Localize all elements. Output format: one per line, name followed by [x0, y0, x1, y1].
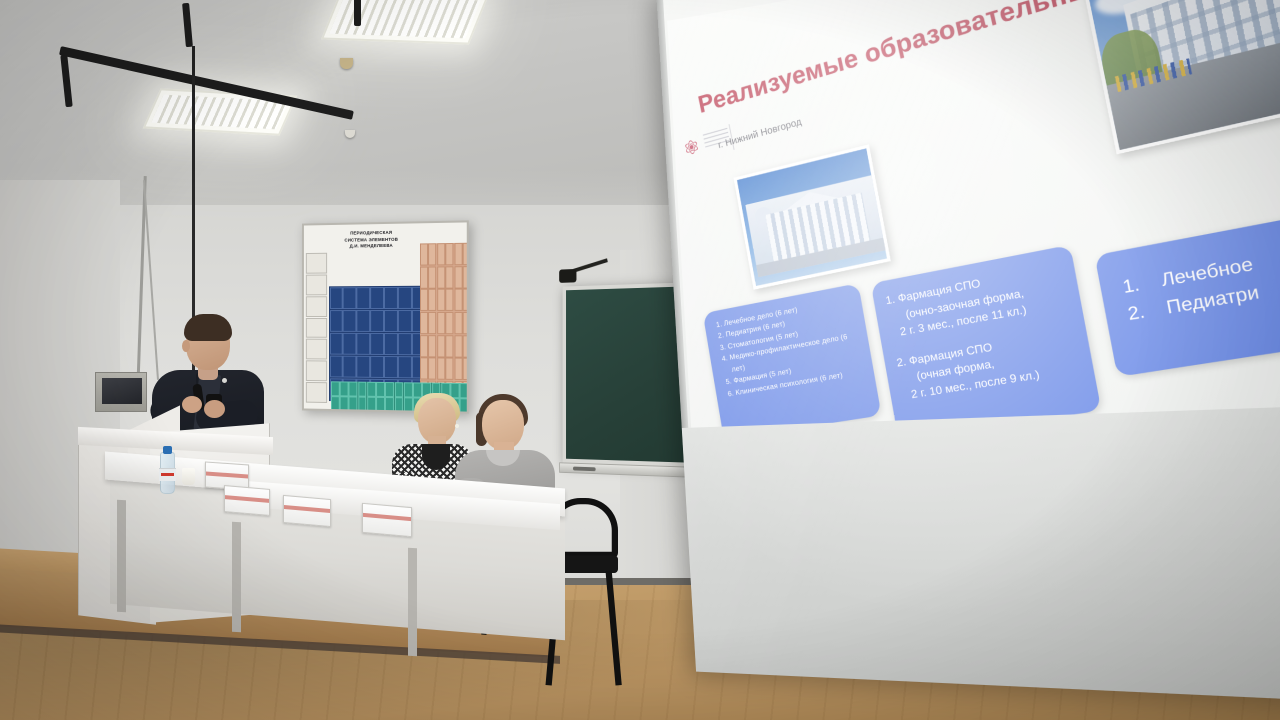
- item-number: 1.: [885, 294, 896, 307]
- presentation-slide: Реализуемые образовательные про г. Нижни…: [667, 0, 1280, 430]
- slide-box-programs-right: 1. Лечебное 2. Педиатри: [1094, 199, 1280, 377]
- earring-icon: [455, 424, 459, 428]
- presenter-hair: [184, 314, 232, 341]
- presenter-ear: [182, 340, 190, 352]
- sprinkler-icon: [340, 58, 353, 69]
- name-placard: [224, 485, 270, 516]
- poster-group-column: [306, 253, 327, 403]
- presenter-right-hand: [204, 400, 225, 418]
- screen-lower-blank-area: [682, 403, 1280, 705]
- name-placard: [362, 503, 412, 537]
- street-building-photo: [1081, 0, 1280, 154]
- crt-screen: [102, 378, 142, 404]
- bottle-label: [159, 468, 176, 481]
- ceiling-rail-drop: [354, 0, 361, 26]
- classical-building-photo: [733, 144, 890, 289]
- table-leg: [408, 548, 417, 656]
- projection-screen: Реализуемые образовательные про г. Нижни…: [656, 0, 1280, 705]
- paper-cup: [182, 468, 195, 485]
- slide-box-programs-middle: 1. Фармация СПО (очно-заочная форма, 2 г…: [871, 245, 1102, 440]
- bottle-cap: [163, 446, 172, 454]
- slide-box-programs-left: Лечебное дело (6 лет) Педиатрия (6 лет) …: [703, 283, 882, 439]
- crt-monitor: [95, 372, 147, 412]
- table-leg: [232, 522, 241, 632]
- row-number: 1.: [1121, 275, 1141, 298]
- periodic-table-poster: ПЕРИОДИЧЕСКАЯ СИСТЕМА ЭЛЕМЕНТОВ Д.И. МЕН…: [302, 220, 469, 413]
- poster-main-group-block: [420, 243, 469, 404]
- table-leg: [117, 500, 126, 612]
- ceiling-light-panel: [321, 0, 489, 45]
- lapel-pin-icon: [222, 378, 227, 383]
- name-placard: [283, 495, 331, 527]
- presenter-left-hand: [182, 396, 202, 413]
- board-lamp-icon: [559, 269, 576, 283]
- chalk-piece: [573, 467, 596, 472]
- poster-title: ПЕРИОДИЧЕСКАЯ СИСТЕМА ЭЛЕМЕНТОВ Д.И. МЕН…: [329, 229, 414, 250]
- lecture-hall-scene: ПЕРИОДИЧЕСКАЯ СИСТЕМА ЭЛЕМЕНТОВ Д.И. МЕН…: [0, 0, 1280, 720]
- item-number: 2.: [896, 356, 907, 369]
- row-number: 2.: [1126, 303, 1146, 326]
